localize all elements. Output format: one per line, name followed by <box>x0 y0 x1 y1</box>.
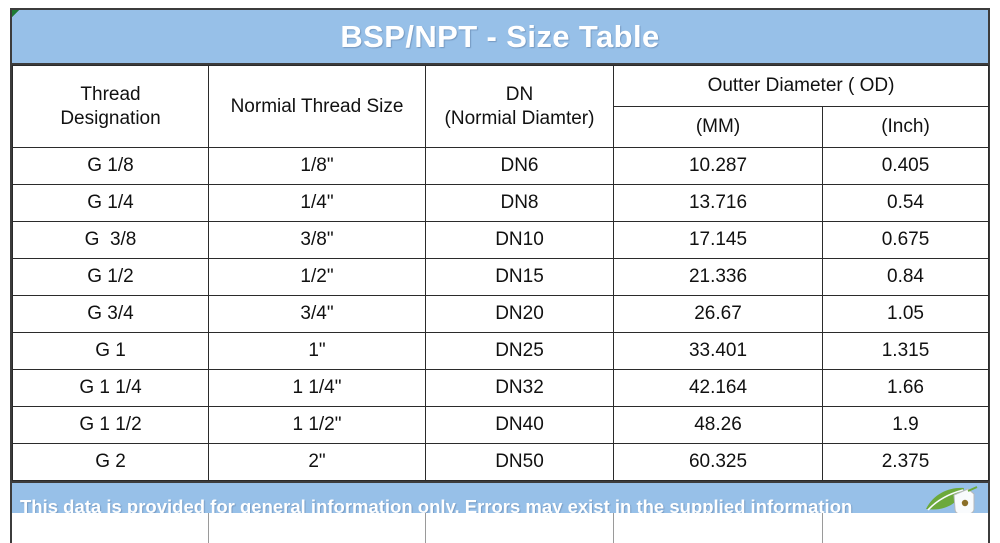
column-header-thread-designation: Thread Designation <box>13 66 209 148</box>
bsp-npt-size-table: Thread Designation Normial Thread Size D… <box>12 65 989 481</box>
table-row: G 3/83/8"DN1017.1450.675 <box>13 222 989 259</box>
cell-normial-thread-size: 1 1/2" <box>209 407 426 444</box>
cell-thread-designation: G 1/8 <box>13 148 209 185</box>
cell-dn: DN32 <box>426 370 614 407</box>
cell-od-mm: 26.67 <box>614 296 823 333</box>
cell-od-mm: 33.401 <box>614 333 823 370</box>
cell-normial-thread-size: 1" <box>209 333 426 370</box>
cell-thread-designation: G 2 <box>13 444 209 481</box>
cell-thread-designation: G 3/8 <box>13 222 209 259</box>
size-table-frame: BSP/NPT - Size Table Thread Designation … <box>10 8 990 533</box>
thread-designation-line2: Designation <box>13 107 208 130</box>
table-body: G 1/81/8"DN610.2870.405G 1/41/4"DN813.71… <box>13 148 989 481</box>
cell-od-mm: 21.336 <box>614 259 823 296</box>
cell-dn: DN25 <box>426 333 614 370</box>
table-row: G 22"DN5060.3252.375 <box>13 444 989 481</box>
bottom-empty-row <box>10 513 990 543</box>
cell-od-inch: 1.315 <box>823 333 989 370</box>
cell-thread-designation: G 1 <box>13 333 209 370</box>
thread-designation-line1: Thread <box>13 83 208 106</box>
cell-normial-thread-size: 1 1/4" <box>209 370 426 407</box>
cell-normial-thread-size: 2" <box>209 444 426 481</box>
cell-od-inch: 0.405 <box>823 148 989 185</box>
cell-thread-designation: G 1/2 <box>13 259 209 296</box>
column-header-outter-diameter: Outter Diameter ( OD) <box>614 66 989 107</box>
column-header-od-inch: (Inch) <box>823 107 989 148</box>
table-row: G 11"DN2533.4011.315 <box>13 333 989 370</box>
grid-divider <box>208 513 209 543</box>
cell-od-inch: 2.375 <box>823 444 989 481</box>
dn-line2: (Normial Diamter) <box>426 107 613 130</box>
grid-divider <box>613 513 614 543</box>
cell-normial-thread-size: 3/8" <box>209 222 426 259</box>
cell-normial-thread-size: 1/4" <box>209 185 426 222</box>
cell-od-inch: 0.84 <box>823 259 989 296</box>
cell-thread-designation: G 1 1/4 <box>13 370 209 407</box>
table-row: G 1 1/41 1/4"DN3242.1641.66 <box>13 370 989 407</box>
cell-od-inch: 1.66 <box>823 370 989 407</box>
cell-od-inch: 1.9 <box>823 407 989 444</box>
cell-thread-designation: G 1/4 <box>13 185 209 222</box>
grid-divider <box>425 513 426 543</box>
cell-od-mm: 42.164 <box>614 370 823 407</box>
cell-thread-designation: G 3/4 <box>13 296 209 333</box>
od-inch-label: (Inch) <box>881 116 930 137</box>
cell-od-mm: 60.325 <box>614 444 823 481</box>
column-header-normial-thread-size: Normial Thread Size <box>209 66 426 148</box>
table-title-band: BSP/NPT - Size Table <box>12 10 988 65</box>
cell-dn: DN20 <box>426 296 614 333</box>
cell-normial-thread-size: 1/2" <box>209 259 426 296</box>
outter-diameter-label: Outter Diameter ( OD) <box>708 75 895 96</box>
column-header-dn: DN (Normial Diamter) <box>426 66 614 148</box>
normial-thread-size-label: Normial Thread Size <box>231 96 404 117</box>
table-row: G 1 1/21 1/2"DN4048.261.9 <box>13 407 989 444</box>
table-row: G 1/41/4"DN813.7160.54 <box>13 185 989 222</box>
table-row: G 3/43/4"DN2026.671.05 <box>13 296 989 333</box>
cell-dn: DN15 <box>426 259 614 296</box>
cell-dn: DN8 <box>426 185 614 222</box>
page-title: BSP/NPT - Size Table <box>340 19 659 55</box>
cell-od-mm: 17.145 <box>614 222 823 259</box>
leaf-watering-can-icon <box>924 485 980 515</box>
cell-dn: DN6 <box>426 148 614 185</box>
dn-line1: DN <box>426 83 613 106</box>
cell-dn: DN40 <box>426 407 614 444</box>
od-mm-label: (MM) <box>696 116 740 137</box>
cell-od-inch: 0.54 <box>823 185 989 222</box>
column-header-od-mm: (MM) <box>614 107 823 148</box>
table-header: Thread Designation Normial Thread Size D… <box>13 66 989 148</box>
header-row-top: Thread Designation Normial Thread Size D… <box>13 66 989 107</box>
table-row: G 1/21/2"DN1521.3360.84 <box>13 259 989 296</box>
table-row: G 1/81/8"DN610.2870.405 <box>13 148 989 185</box>
cell-od-mm: 48.26 <box>614 407 823 444</box>
cell-thread-designation: G 1 1/2 <box>13 407 209 444</box>
cell-od-mm: 13.716 <box>614 185 823 222</box>
cell-od-inch: 0.675 <box>823 222 989 259</box>
cell-dn: DN50 <box>426 444 614 481</box>
cell-normial-thread-size: 1/8" <box>209 148 426 185</box>
cell-od-mm: 10.287 <box>614 148 823 185</box>
cell-dn: DN10 <box>426 222 614 259</box>
grid-divider <box>822 513 823 543</box>
cell-normial-thread-size: 3/4" <box>209 296 426 333</box>
cell-od-inch: 1.05 <box>823 296 989 333</box>
spreadsheet-page: BSP/NPT - Size Table Thread Designation … <box>0 0 1000 543</box>
